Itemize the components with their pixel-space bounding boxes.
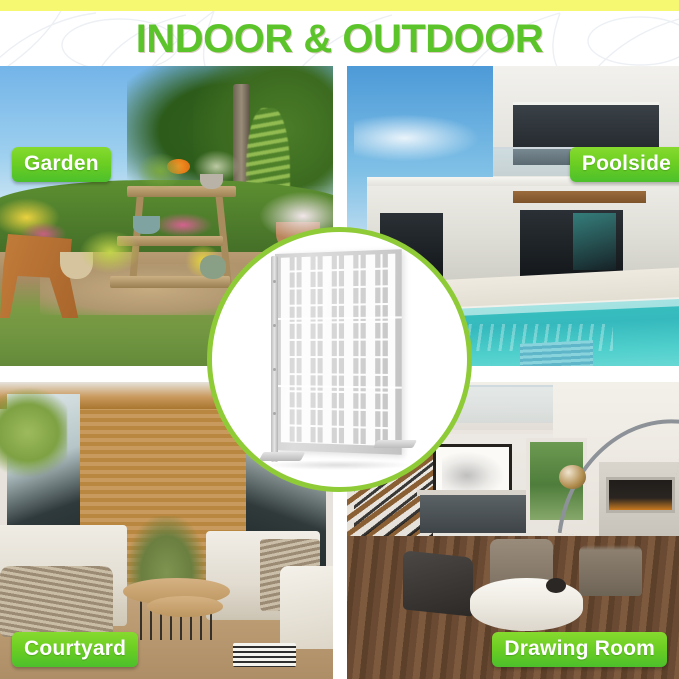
privacy-screen-rivet [273,324,276,327]
flowers-middle-shelf [153,213,213,237]
courtyard-ornamental-grass [127,516,207,587]
badge-poolside: Poolside [570,147,679,182]
top-accent-bar [0,0,679,11]
privacy-screen-rivet [273,412,276,415]
pot-blue-middle [133,216,160,234]
badge-courtyard: Courtyard [12,632,138,667]
pot-green-large [200,255,227,279]
courtyard-stacked-books [233,643,296,667]
product-infographic: INDOOR & OUTDOOR [0,0,679,679]
courtyard-throw-blanket [280,566,333,649]
courtyard-nesting-table [147,596,224,617]
privacy-screen-foot-rear [373,440,417,448]
page-title: INDOOR & OUTDOOR [136,19,544,59]
arc-floor-lamp-shade [559,465,586,489]
pool-mosaic-tiles [520,340,593,366]
badge-garden: Garden [12,147,111,182]
villa-glass-reflection [573,213,616,270]
plant-stand-top-shelf [127,186,237,197]
privacy-screen-rivet [273,280,276,283]
shrub-chartreuse [80,231,140,273]
foliage-top-left [137,153,184,189]
poolside-clouds [354,114,480,162]
drawing-room-lounge-chair-right [579,545,642,595]
privacy-screen-ground-shadow [263,460,413,470]
product-spotlight-circle [207,227,472,492]
drawing-room-cabinets [420,495,526,534]
privacy-screen-rivet [273,368,276,371]
courtyard-palm-plant [0,388,67,477]
privacy-screen-panel [267,254,417,472]
drawing-room-teapot [546,578,566,593]
privacy-screen-cutout-pattern-secondary [281,254,395,447]
courtyard-wicker-armchair [0,566,113,637]
villa-wood-soffit [513,191,646,203]
privacy-screen-support-post [271,256,278,462]
badge-drawing-room: Drawing Room [492,632,667,667]
drawing-room-lounge-chair-left [403,551,473,618]
header: INDOOR & OUTDOOR [0,11,679,66]
privacy-screen-board [275,249,402,455]
